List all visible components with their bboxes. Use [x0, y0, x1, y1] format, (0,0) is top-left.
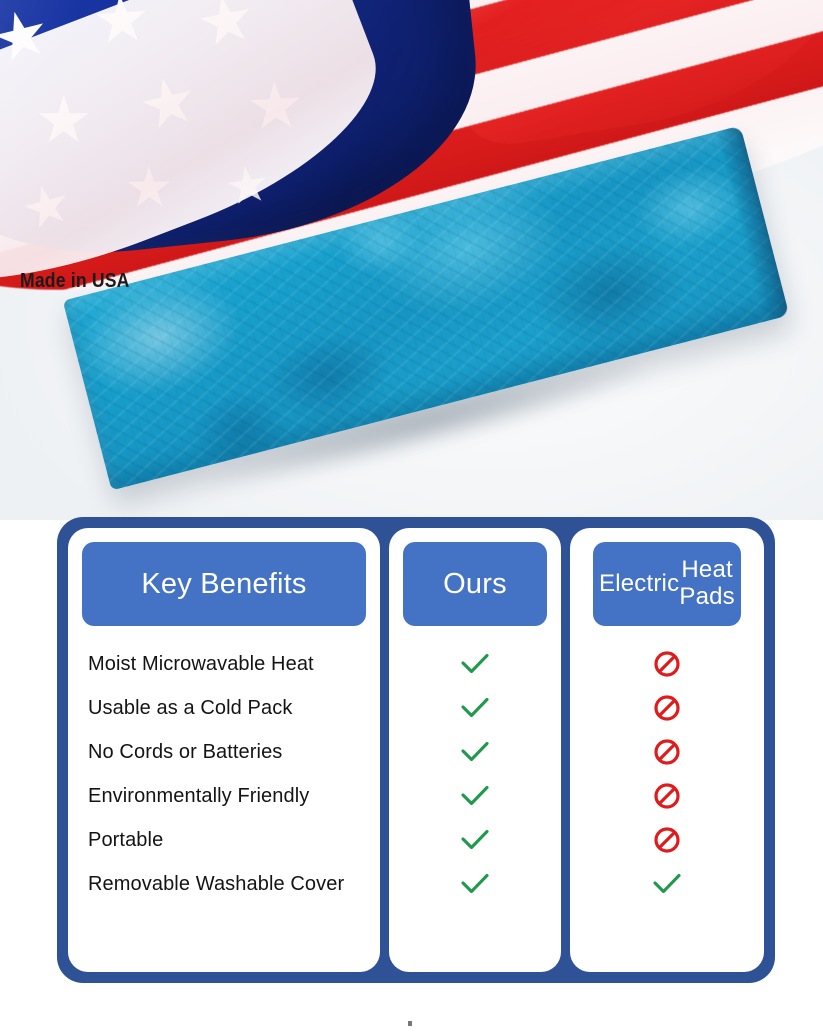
comparison-table: Key Benefits Moist Microwavable Heat Usa… — [57, 517, 775, 983]
header-ours: Ours — [403, 542, 547, 626]
table-row: Environmentally Friendly — [68, 774, 380, 818]
table-row: Portable — [68, 818, 380, 862]
table-row — [570, 818, 764, 862]
header-key-benefits: Key Benefits — [82, 542, 366, 626]
table-row — [570, 774, 764, 818]
check-icon — [460, 872, 490, 896]
table-row — [389, 730, 561, 774]
prohibition-icon — [653, 694, 681, 722]
prohibition-icon — [653, 738, 681, 766]
benefit-rows: Moist Microwavable Heat Usable as a Cold… — [68, 642, 380, 906]
check-icon — [460, 696, 490, 720]
table-row: Removable Washable Cover — [68, 862, 380, 906]
table-row — [570, 862, 764, 906]
header-electric-line2: Heat Pads — [679, 557, 735, 611]
header-electric-line1: Electric — [599, 571, 679, 598]
check-icon — [460, 828, 490, 852]
benefit-label: Environmentally Friendly — [88, 785, 309, 808]
table-row — [389, 774, 561, 818]
benefit-label: Usable as a Cold Pack — [88, 697, 292, 720]
check-icon — [460, 652, 490, 676]
prohibition-icon — [653, 826, 681, 854]
table-row: Moist Microwavable Heat — [68, 642, 380, 686]
made-in-usa-label: Made in USA — [20, 270, 130, 293]
heat-pad-icon — [58, 188, 798, 518]
table-row — [389, 642, 561, 686]
table-row: No Cords or Batteries — [68, 730, 380, 774]
column-key-benefits: Key Benefits Moist Microwavable Heat Usa… — [68, 528, 380, 972]
check-icon — [460, 784, 490, 808]
benefit-label: No Cords or Batteries — [88, 741, 282, 764]
benefit-label: Moist Microwavable Heat — [88, 653, 314, 676]
benefit-label: Removable Washable Cover — [88, 873, 344, 896]
prohibition-icon — [653, 650, 681, 678]
product-infographic: Made in USA Key Benefits Moist Microwava… — [0, 0, 823, 1033]
table-row — [570, 642, 764, 686]
check-icon — [460, 740, 490, 764]
table-row — [570, 686, 764, 730]
column-ours: Ours — [389, 528, 561, 972]
table-row: Usable as a Cold Pack — [68, 686, 380, 730]
table-row — [389, 818, 561, 862]
column-electric-heat-pads: Electric Heat Pads — [570, 528, 764, 972]
prohibition-icon — [653, 782, 681, 810]
header-electric-heat-pads: Electric Heat Pads — [593, 542, 741, 626]
benefit-label: Portable — [88, 829, 163, 852]
page-artifact — [408, 1021, 412, 1026]
table-row — [389, 862, 561, 906]
product-photo: Made in USA — [0, 0, 823, 520]
table-row — [570, 730, 764, 774]
electric-rows — [570, 642, 764, 906]
check-icon — [652, 872, 682, 896]
ours-rows — [389, 642, 561, 906]
table-row — [389, 686, 561, 730]
